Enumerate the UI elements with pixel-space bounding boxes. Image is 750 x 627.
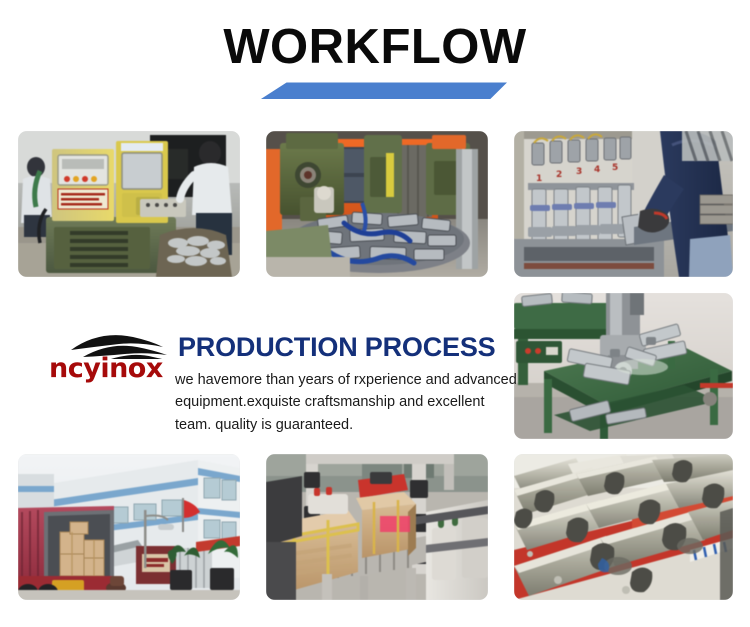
drill-press-bench-image (514, 293, 733, 439)
title-underline-wrap (0, 79, 750, 101)
brand-logo-text: ncyinox (49, 355, 189, 382)
photo-assembly-worker: 12 34 5 (514, 131, 733, 277)
workflow-page: WORKFLOW (0, 0, 750, 627)
svg-text:2: 2 (556, 170, 562, 180)
svg-text:1: 1 (536, 174, 542, 184)
finished-parts-image (514, 454, 733, 600)
production-process-description: we havemore than years of rxperience and… (175, 369, 520, 436)
photo-finished-parts (514, 454, 733, 600)
svg-text:5: 5 (612, 163, 618, 173)
production-process-heading: PRODUCTION PROCESS (178, 332, 495, 363)
packing-conveyor-image (266, 454, 488, 600)
photo-packing-conveyor (266, 454, 488, 600)
brand-logo: ncyinox (49, 333, 189, 383)
drilling-station-image (266, 131, 488, 277)
photo-loading-container (18, 454, 240, 600)
photo-cnc-machining (18, 131, 240, 277)
loading-container-image (18, 454, 240, 600)
svg-text:3: 3 (576, 167, 582, 177)
photo-drill-press-bench (514, 293, 733, 439)
page-header: WORKFLOW (0, 22, 750, 101)
production-process-block: ncyinox PRODUCTION PROCESS we havemore t… (18, 293, 498, 439)
photo-drilling-station (266, 131, 488, 277)
title-underline-banner (243, 82, 507, 99)
svg-text:4: 4 (594, 165, 600, 175)
page-title: WORKFLOW (0, 22, 750, 73)
cnc-machining-image (18, 131, 240, 277)
assembly-worker-image: 12 34 5 (514, 131, 733, 277)
